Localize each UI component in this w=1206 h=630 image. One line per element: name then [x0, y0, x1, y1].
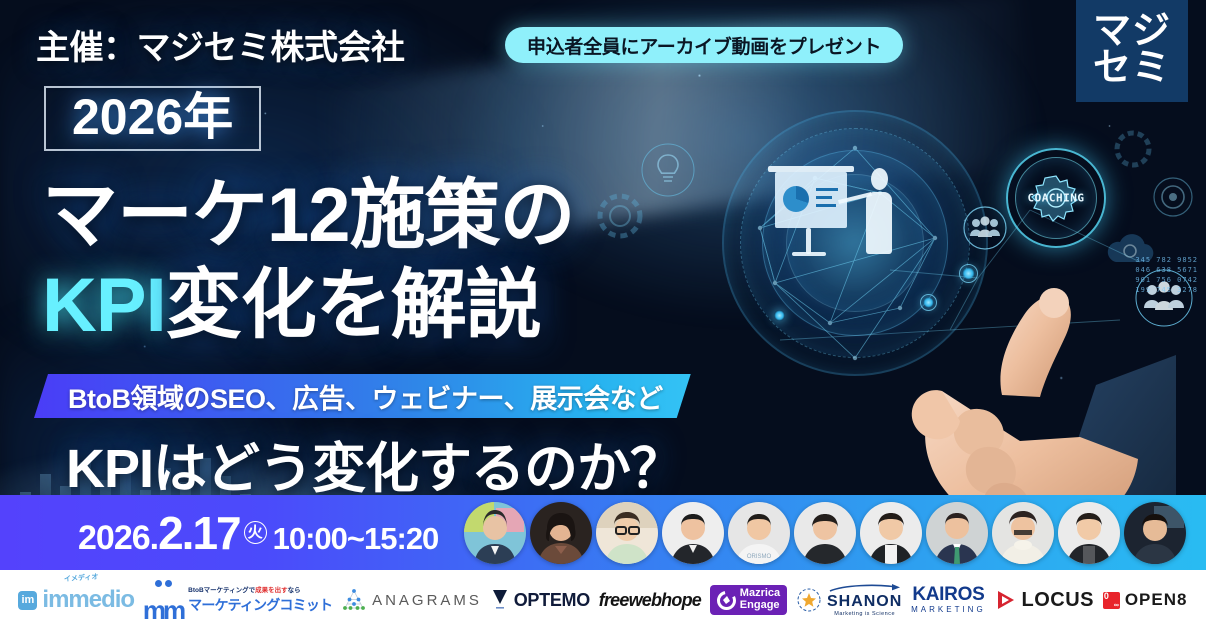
avatar[interactable]	[926, 502, 988, 564]
open8-mark-icon: 0 ∞	[1103, 592, 1120, 609]
shanon-tagline: Marketing is Science	[834, 611, 895, 617]
locus-play-icon	[995, 589, 1017, 611]
sponsor-freewebhope[interactable]: freewebhope	[599, 590, 701, 611]
subtitle-bar: BtoB領域のSEO、広告、ウェビナー、展示会など	[34, 374, 691, 418]
kairos-wordmark: KAIROS	[912, 585, 984, 604]
sponsor-anagrams[interactable]: ANAGRAMS	[341, 588, 482, 612]
optemo-mark-icon	[491, 588, 509, 612]
sponsor-optemo[interactable]: OPTEMO	[491, 588, 590, 612]
open8-wordmark: OPEN8	[1125, 590, 1188, 610]
avatar[interactable]	[1058, 502, 1120, 564]
date-day-of-week: 火	[244, 521, 267, 544]
commit-dots-icon	[155, 580, 172, 587]
avatar[interactable]	[860, 502, 922, 564]
webinar-banner: COACHING	[0, 0, 1206, 630]
host-line: 主催：マジセミ株式会社	[36, 20, 405, 69]
avatar[interactable]	[464, 502, 526, 564]
speaker-avatar-list: ORISMO	[464, 502, 1186, 564]
headline-line-2-rest: 変化を解説	[166, 263, 541, 348]
question-line: KPIはどう変化するのか？	[66, 424, 683, 503]
sponsor-open8[interactable]: 0 ∞ OPEN8	[1103, 590, 1188, 610]
avatar[interactable]	[1124, 502, 1186, 564]
immedio-mark-icon: im	[18, 591, 37, 610]
svg-text:ORISMO: ORISMO	[747, 554, 772, 560]
logo-line-1: マジ	[1093, 13, 1171, 50]
immedio-wordmark: immedio	[42, 586, 134, 613]
year-badge: 2026年	[44, 86, 261, 151]
headline-kpi-highlight: KPI	[42, 263, 166, 348]
anagrams-wordmark: ANAGRAMS	[372, 592, 482, 609]
kairos-sub: MARKETING	[911, 604, 986, 616]
pointing-hand-photo	[846, 205, 1176, 535]
sponsor-mazrica-engage[interactable]: Mazrica Engage	[710, 585, 787, 614]
sponsor-locus[interactable]: LOCUS	[995, 589, 1095, 612]
avatar[interactable]	[662, 502, 724, 564]
sponsor-immedio[interactable]: im イメディオ immedio	[18, 586, 134, 614]
freewebhope-wordmark: freewebhope	[599, 590, 701, 611]
avatar[interactable]	[596, 502, 658, 564]
shanon-arrow-icon	[828, 584, 902, 593]
logo-line-2: セミ	[1093, 50, 1171, 87]
date-month-day: 2.17	[158, 506, 240, 560]
date-year: 2026.	[78, 519, 158, 558]
gear-icon-left	[584, 180, 656, 252]
mazrica-ring-icon	[717, 591, 736, 610]
majisemi-logo[interactable]: マジ セミ	[1076, 0, 1188, 102]
commit-wordmark: マーケティングコミット	[188, 595, 332, 615]
commit-tagline: BtoBマーケティングで成果を出すなら	[188, 584, 301, 594]
promo-badge: 申込者全員にアーカイブ動画をプレゼント	[505, 27, 903, 63]
event-strip: 2026. 2.17 火 10:00~15:20 ORISMO	[0, 495, 1206, 570]
avatar[interactable]: ORISMO	[728, 502, 790, 564]
sponsor-marketing-commit[interactable]: mm BtoBマーケティングで成果を出すなら マーケティングコミット	[143, 580, 332, 621]
avatar[interactable]	[530, 502, 592, 564]
event-date: 2026. 2.17 火 10:00~15:20	[78, 506, 438, 560]
locus-wordmark: LOCUS	[1022, 589, 1095, 612]
optemo-wordmark: OPTEMO	[514, 590, 590, 611]
shanon-wordmark: SHANON	[827, 593, 902, 611]
sponsor-kairos[interactable]: KAIROS MARKETING	[911, 585, 986, 616]
headline-line-2: KPI変化を解説	[42, 268, 541, 344]
headline-line-1: マーケ12施策の	[42, 178, 575, 254]
background-data-digits: 345 782 9852046 638 5671901 756 0742199 …	[1135, 255, 1198, 295]
anagrams-triangle-icon	[341, 588, 367, 612]
event-time-range: 10:00~15:20	[273, 521, 439, 557]
commit-m-icon: mm	[143, 600, 183, 621]
avatar[interactable]	[992, 502, 1054, 564]
mazrica-wordmark: Mazrica Engage	[740, 588, 780, 611]
avatar[interactable]	[794, 502, 856, 564]
sponsor-shanon[interactable]: SHANON Marketing is Science	[796, 584, 902, 617]
immedio-kana: イメディオ	[64, 572, 99, 584]
sponsor-bar: im イメディオ immedio mm BtoBマーケティングで成果を出すなら …	[0, 570, 1206, 630]
shanon-star-icon	[796, 587, 822, 613]
